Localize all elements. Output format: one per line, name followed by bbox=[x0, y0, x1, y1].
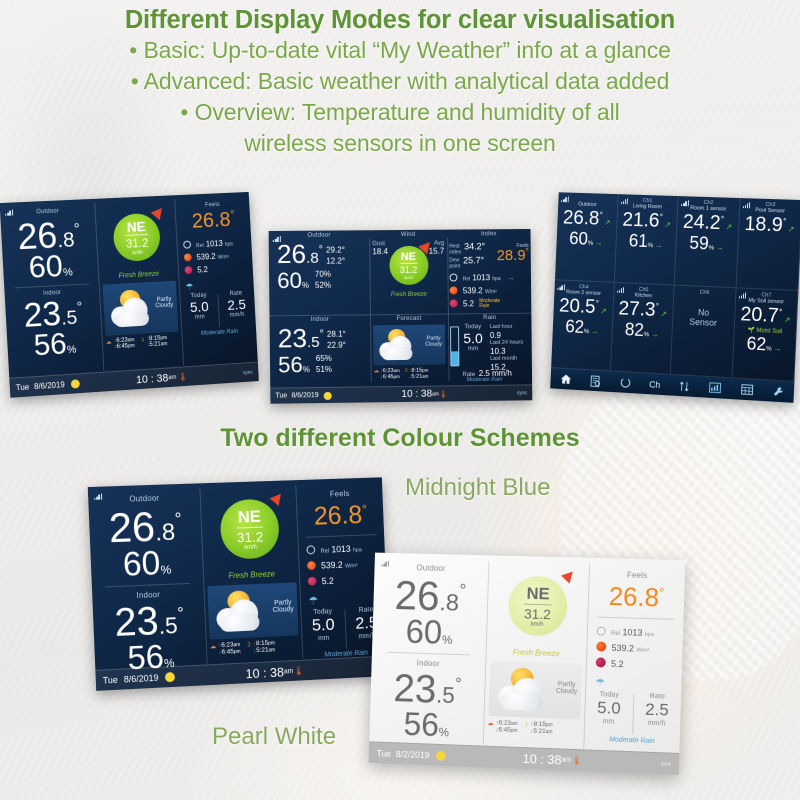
pw-feels-label: Feels bbox=[590, 570, 685, 581]
adv-wind-speed: 31.2 bbox=[400, 262, 418, 274]
heat-index-label: Heat index bbox=[449, 244, 461, 256]
barometer-icon bbox=[306, 545, 315, 554]
wind-speed-unit: km/h bbox=[132, 250, 143, 256]
pw-status-time: 10 : 38 bbox=[523, 751, 562, 767]
mb-status-date: 8/6/2019 bbox=[124, 673, 159, 685]
pw-uv-row: 5.2 bbox=[596, 656, 683, 673]
moon-phase-icon bbox=[324, 391, 332, 399]
console-advanced-mode[interactable]: Outdoor Wind Index 26.8° 29.2° 12.2° 60%… bbox=[269, 229, 533, 404]
adv-rain-today-unit: mm bbox=[459, 346, 487, 352]
signal-icon bbox=[681, 199, 690, 206]
sensor-humidity: 62%→ bbox=[735, 334, 793, 356]
console-midnight-blue[interactable]: Outdoor 26.8° 60% Indoor 23.5° 56% NE bbox=[88, 477, 390, 691]
rain-today-unit: mm bbox=[181, 313, 218, 321]
mb-outdoor-humidity: 60% bbox=[90, 546, 203, 582]
adv-feels-temperature: 28.9° bbox=[497, 247, 529, 269]
adv-moonset-time: 5:21 bbox=[412, 374, 423, 380]
moon-icon: ☽ bbox=[522, 720, 528, 734]
settings-icon[interactable] bbox=[772, 385, 784, 398]
alarm-icon: 🌡 bbox=[293, 665, 304, 676]
pressure-prefix: Rel bbox=[196, 243, 204, 249]
adv-out-temp-dec: .8 bbox=[306, 250, 319, 267]
pw-rain-description: Moderate Rain bbox=[584, 735, 679, 745]
solar-unit: W/m² bbox=[218, 254, 230, 260]
sensor-temperature: 21.6°↗ bbox=[619, 210, 676, 233]
calendar-icon[interactable] bbox=[740, 384, 753, 396]
adv-uv-value: 5.2 bbox=[463, 299, 474, 308]
pw-wind-unit: km/h bbox=[531, 622, 544, 628]
forecast-panel: Partly Cloudy bbox=[103, 281, 179, 336]
uv-value: 5.2 bbox=[197, 265, 208, 274]
alarm-icon: 🌡 bbox=[571, 755, 583, 766]
pressure-value: 1013 bbox=[206, 239, 223, 249]
wind-description: Fresh Breeze bbox=[99, 270, 178, 281]
alarm-icon: 🌡 bbox=[178, 372, 188, 381]
signal-icon bbox=[739, 291, 748, 298]
pw-moonset-time: 5:21 bbox=[533, 728, 546, 735]
pressure-trend-icon: → bbox=[507, 273, 515, 282]
adv-out-temp-high: 29.2° bbox=[326, 244, 345, 255]
status-date: 8/6/2019 bbox=[34, 380, 65, 391]
section-index-label: Index bbox=[447, 231, 531, 238]
adv-in-temp-low: 22.9° bbox=[327, 340, 346, 351]
adv-pressure-prefix: Rel bbox=[463, 276, 471, 282]
signal-icon bbox=[743, 201, 752, 208]
sensor-humidity: 60%→ bbox=[558, 229, 613, 249]
sensor-humidity: 61%→ bbox=[618, 231, 674, 252]
adv-indoor-humidity: 56% bbox=[278, 355, 310, 376]
uv-row: 5.2 bbox=[184, 262, 253, 277]
feels-temperature: 26.8° bbox=[176, 207, 251, 234]
uv-icon bbox=[450, 299, 458, 307]
feels-value: 26.8 bbox=[191, 208, 231, 232]
percent-unit: % bbox=[67, 344, 77, 356]
rain-rate-unit: mm/h bbox=[219, 311, 255, 319]
overview-sensor-cell[interactable]: Ch4Room 2 sensor20.5°↗62%→ bbox=[551, 280, 614, 371]
overview-sensor-cell[interactable]: Ch3Pool Sensor18.9°↗ bbox=[736, 198, 800, 291]
moonset-time: 5:21 bbox=[149, 341, 161, 348]
adv-solar-row: 539.2 W/m² bbox=[450, 285, 530, 299]
indoor-temp-dec: .5 bbox=[61, 307, 78, 330]
wind-speed: 31.2 bbox=[125, 234, 148, 251]
graph-icon[interactable] bbox=[709, 382, 722, 394]
channel-icon[interactable]: Ch bbox=[649, 379, 660, 389]
moonset-ampm: am bbox=[161, 341, 168, 347]
overview-sensor-cell[interactable]: Ch2Room 1 sensor24.2°↗59%→ bbox=[675, 196, 740, 288]
sensor-temperature: 24.2°↗ bbox=[679, 212, 737, 235]
rain-icon: ☂ bbox=[595, 676, 682, 692]
solar-icon bbox=[307, 561, 316, 570]
adv-in-temp-high: 28.1° bbox=[327, 329, 346, 340]
degree-symbol: ° bbox=[230, 209, 235, 221]
adv-forecast-text: Partly Cloudy bbox=[425, 336, 442, 348]
report-icon[interactable] bbox=[590, 375, 602, 387]
adv-wind-description: Fresh Breeze bbox=[370, 292, 448, 299]
sunrise-sunset-icon: ☁ bbox=[106, 339, 112, 351]
adv-wind-dial: NE 31.2 km/h bbox=[383, 240, 433, 290]
moon-icon: ☽ bbox=[139, 337, 145, 349]
section-wind-label: Wind bbox=[369, 232, 447, 239]
rain-last-hour-value: 0.9 bbox=[490, 331, 523, 340]
adv-status-bar: Tue 8/6/2019 10 : 38 am 🌡 sync bbox=[270, 384, 532, 403]
moon-phase-icon bbox=[70, 379, 79, 388]
pw-forecast-panel: Partly Cloudy bbox=[488, 661, 582, 719]
adv-out-hum-low: 52% bbox=[315, 280, 331, 291]
mb-uv-value: 5.2 bbox=[322, 576, 334, 586]
adv-in-temp-dec: .5 bbox=[307, 334, 320, 351]
moon-phase-icon bbox=[436, 750, 446, 760]
heat-index-value: 34.2° bbox=[464, 241, 485, 255]
sensor-temperature: 20.5°↗ bbox=[555, 296, 611, 319]
status-day: Tue bbox=[16, 383, 30, 393]
overview-sensor-cell[interactable]: Ch7My Soil sensor20.7°↗🌱 Moist Soil62%→ bbox=[732, 288, 798, 382]
forecast-text: Partly Cloudy bbox=[155, 296, 174, 309]
home-icon[interactable] bbox=[559, 373, 572, 384]
console-overview-mode[interactable]: Outdoor26.8°↗60%→Ch1Living Room21.6°↗61%… bbox=[550, 192, 800, 403]
mb-moonset-time: 5:21 bbox=[256, 647, 269, 654]
pw-outdoor-humidity: 60% bbox=[372, 616, 486, 650]
mb-wind-unit: km/h bbox=[244, 545, 257, 551]
indoor-humidity: 56% bbox=[7, 328, 103, 361]
sensor-temperature: 27.3°↗ bbox=[615, 299, 671, 322]
mb-sunset-time: 6:45 bbox=[221, 648, 234, 656]
degree-symbol: ° bbox=[73, 220, 80, 237]
sunrise-sunset-icon: ☁ bbox=[210, 642, 217, 656]
pw-wind-dial: NE 31.2 km/h bbox=[499, 566, 578, 645]
label-pearl-white: Pearl White bbox=[212, 723, 336, 751]
adv-in-hum-value: 56 bbox=[278, 352, 303, 377]
sensor-humidity: 82%→ bbox=[614, 320, 670, 341]
refresh-icon[interactable] bbox=[619, 376, 631, 388]
brand-logo: sync bbox=[243, 369, 253, 375]
adv-rain-today-value: 5.0 bbox=[459, 330, 487, 346]
alarm-icon: 🌡 bbox=[439, 390, 448, 398]
mb-wind-speed: 31.2 bbox=[236, 527, 263, 546]
mb-wind-direction: NE bbox=[237, 507, 261, 528]
adv-status-time: 10 : 38 bbox=[401, 389, 432, 400]
mb-wind-dial: NE 31.2 km/h bbox=[211, 490, 288, 568]
adv-uv-desc: Moderate Rain bbox=[479, 299, 500, 309]
section-subtitle: Two different Colour Schemes bbox=[0, 424, 800, 453]
moon-icon: ☽ bbox=[403, 368, 408, 380]
adv-wind-direction: NE bbox=[401, 250, 416, 262]
uv-icon bbox=[184, 266, 192, 274]
moon-icon: ☽ bbox=[245, 641, 251, 655]
uv-icon bbox=[596, 657, 606, 667]
rain-last-24-label: Last 24 hours bbox=[490, 340, 523, 347]
mb-status-ampm: am bbox=[284, 668, 294, 675]
bullet-overview: • Overview: Temperature and humidity of … bbox=[0, 97, 800, 128]
label-midnight-blue: Midnight Blue bbox=[405, 474, 550, 502]
pw-wind-speed: 31.2 bbox=[524, 604, 551, 623]
partly-cloudy-icon bbox=[109, 287, 154, 331]
pw-outdoor-temperature: 26.8° bbox=[373, 576, 488, 617]
mb-forecast-text: Partly Cloudy bbox=[272, 599, 294, 614]
pw-wind-direction: NE bbox=[526, 584, 550, 604]
indoor-hum-value: 56 bbox=[33, 327, 68, 362]
wind-direction: NE bbox=[126, 218, 146, 235]
signal-icon bbox=[621, 197, 630, 204]
sunset-time: 6:45 bbox=[117, 343, 129, 350]
adv-feels-value: 28.9 bbox=[497, 247, 526, 264]
mb-wind-description: Fresh Breeze bbox=[204, 569, 299, 582]
pw-solar-value: 539.2 bbox=[611, 643, 634, 654]
partly-cloudy-icon bbox=[378, 328, 416, 362]
sunrise-sunset-icon: ☁ bbox=[374, 368, 380, 380]
mb-status-day: Tue bbox=[103, 675, 118, 686]
adv-pressure-row: Rel 1013 hpa → bbox=[449, 272, 529, 286]
dew-point-label: Dew point bbox=[449, 257, 460, 269]
adv-out-temp-int: 26 bbox=[277, 239, 306, 269]
mb-pressure-value: 1013 bbox=[331, 544, 350, 555]
console-pearl-white[interactable]: Outdoor 26.8° 60% Indoor 23.5° 56% NE bbox=[369, 553, 686, 775]
brand-logo: sync bbox=[517, 390, 527, 396]
adv-rain-description: Moderate Rain bbox=[466, 377, 502, 383]
pw-forecast-text: Partly Cloudy bbox=[556, 681, 578, 696]
partly-cloudy-icon bbox=[214, 588, 264, 636]
signal-icon bbox=[557, 283, 566, 290]
pw-indoor-temperature: 23.5° bbox=[370, 670, 485, 710]
adv-status-day: Tue bbox=[275, 392, 287, 399]
mb-status-time: 10 : 38 bbox=[245, 664, 284, 681]
adv-uv-row: 5.2 Moderate Rain bbox=[450, 298, 530, 310]
pw-sunset-time: 6:45 bbox=[498, 726, 511, 733]
status-ampm: am bbox=[168, 374, 176, 380]
overview-sensor-cell[interactable]: Ch6No Sensor bbox=[671, 286, 736, 379]
pw-rain-today-value: 5.0 bbox=[585, 698, 632, 720]
uv-icon bbox=[308, 577, 317, 586]
adv-in-temp-int: 23 bbox=[278, 323, 307, 353]
rain-last-24-value: 10.3 bbox=[490, 347, 523, 356]
pw-status-ampm: am bbox=[562, 756, 572, 763]
adv-out-hum-high: 70% bbox=[315, 269, 331, 280]
adv-sunset-time: 6:45 bbox=[383, 374, 394, 380]
mb-solar-value: 539.2 bbox=[321, 560, 343, 571]
outdoor-humidity: 60% bbox=[2, 250, 98, 283]
solar-icon bbox=[450, 286, 458, 294]
partly-cloudy-icon bbox=[496, 665, 548, 714]
adv-out-temp-low: 12.2° bbox=[326, 255, 345, 266]
pw-status-date: 8/2/2019 bbox=[396, 749, 430, 760]
percent-unit: % bbox=[63, 267, 73, 279]
sensor-channel: Ch6 bbox=[676, 289, 733, 297]
bullet-overview-cont: wireless sensors in one screen bbox=[0, 128, 800, 159]
overview-sensor-cell[interactable]: Outdoor26.8°↗60%→ bbox=[555, 192, 618, 283]
sunset-ampm: pm bbox=[128, 343, 135, 349]
mb-forecast-panel: Partly Cloudy bbox=[207, 582, 298, 639]
barometer-icon bbox=[597, 627, 606, 636]
mb-feels-temperature: 26.8° bbox=[297, 499, 384, 532]
section-forecast-label: Forecast bbox=[370, 316, 448, 323]
adv-wind-unit: km/h bbox=[404, 274, 413, 279]
dew-point-value: 25.7° bbox=[463, 255, 484, 269]
rain-description: Moderate Rain bbox=[182, 328, 256, 338]
headings-block: Different Display Modes for clear visual… bbox=[0, 6, 800, 159]
section-rain-label: Rain bbox=[448, 315, 532, 322]
pw-wind-description: Fresh Breeze bbox=[486, 647, 586, 659]
adv-out-hum-value: 60 bbox=[277, 268, 302, 293]
sensor-humidity: 62%→ bbox=[554, 317, 609, 338]
adv-outdoor-temperature: 26.8° bbox=[277, 243, 323, 267]
adv-pressure-unit: hpa bbox=[492, 276, 500, 282]
adv-forecast-panel: Partly Cloudy bbox=[373, 325, 445, 366]
pw-status-day: Tue bbox=[376, 748, 391, 758]
bullet-basic: • Basic: Up-to-date vital “My Weather” i… bbox=[0, 35, 800, 66]
adv-indoor-temperature: 23.5° bbox=[278, 327, 324, 351]
sensor-temperature: 26.8°↗ bbox=[559, 208, 615, 230]
adv-pressure-value: 1013 bbox=[472, 273, 490, 282]
minmax-icon[interactable] bbox=[679, 380, 691, 392]
solar-value: 539.2 bbox=[196, 252, 215, 262]
wind-dial: NE 31.2 km/h bbox=[105, 206, 168, 270]
sensor-humidity: 59%→ bbox=[678, 234, 735, 255]
barometer-icon bbox=[449, 273, 457, 281]
status-time: 10 : 38 bbox=[136, 372, 169, 386]
bullet-advanced: • Advanced: Basic weather with analytica… bbox=[0, 66, 800, 97]
adv-in-hum-low: 51% bbox=[316, 364, 332, 375]
mb-feels-label: Feels bbox=[296, 488, 382, 500]
adv-solar-value: 539.2 bbox=[463, 286, 483, 295]
signal-icon bbox=[617, 286, 626, 293]
adv-in-hum-high: 65% bbox=[316, 353, 332, 364]
console-basic-mode[interactable]: Outdoor 26.8° 60% Indoor 23.5° 56% NE bbox=[0, 192, 259, 398]
sun-moon-times: ☁ ↑6:23am ↓6:45pm ☽ ↑8:15pm ↓5:21am bbox=[103, 334, 182, 351]
pw-pressure-value: 1013 bbox=[622, 627, 642, 638]
sensor-temperature: 20.7°↗ bbox=[736, 304, 794, 328]
overview-sensor-cell[interactable]: Ch5Kitchen27.3°↗82%→ bbox=[610, 283, 674, 375]
adv-status-date: 8/6/2019 bbox=[291, 392, 318, 399]
degree-symbol: ° bbox=[76, 299, 82, 315]
pw-uv-value: 5.2 bbox=[611, 659, 624, 669]
brand-logo: sync bbox=[661, 761, 671, 767]
mb-outdoor-temperature: 26.8° bbox=[89, 506, 202, 549]
moon-phase-icon bbox=[165, 672, 175, 682]
no-sensor-text: No Sensor bbox=[675, 306, 732, 328]
sunrise-sunset-icon: ☁ bbox=[487, 719, 494, 733]
adv-status-ampm: am bbox=[432, 391, 439, 397]
barometer-icon bbox=[183, 241, 191, 249]
adv-outdoor-humidity: 60% bbox=[277, 270, 309, 291]
adv-solar-unit: W/m² bbox=[485, 289, 497, 295]
mb-indoor-temperature: 23.5° bbox=[93, 601, 206, 643]
sensor-temperature: 18.9°↗ bbox=[740, 214, 798, 237]
rain-gauge-icon bbox=[450, 326, 459, 366]
solar-icon bbox=[184, 253, 192, 261]
mb-rain-today-value: 5.0 bbox=[302, 615, 345, 637]
pressure-unit: hpa bbox=[225, 241, 233, 247]
pw-feels-temperature: 26.8° bbox=[589, 581, 685, 614]
page-title: Different Display Modes for clear visual… bbox=[0, 6, 800, 35]
signal-icon bbox=[561, 195, 570, 202]
pw-rain-rate-value: 2.5 bbox=[633, 699, 681, 721]
solar-icon bbox=[596, 641, 606, 651]
outdoor-hum-value: 60 bbox=[28, 248, 64, 285]
pw-indoor-humidity: 56% bbox=[369, 708, 483, 742]
overview-sensor-cell[interactable]: Ch1Living Room21.6°↗61%→ bbox=[614, 194, 678, 285]
